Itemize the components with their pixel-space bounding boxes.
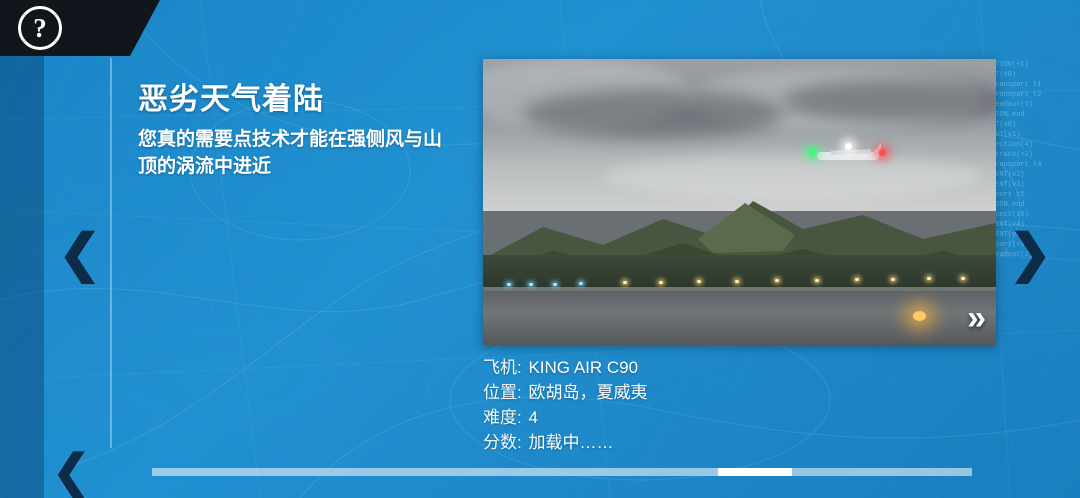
cloud-dark xyxy=(523,89,783,139)
runway-light xyxy=(775,279,779,282)
detail-label: 飞机: xyxy=(483,358,522,377)
mission-details: 飞机: KING AIR C90 位置: 欧胡岛，夏威夷 难度: 4 分数: 加… xyxy=(483,355,983,455)
detail-value: 加载中…… xyxy=(528,433,613,452)
runway-light xyxy=(891,278,895,281)
detail-label: 分数: xyxy=(483,433,522,452)
preview-next-icon[interactable]: » xyxy=(967,301,982,335)
approach-light xyxy=(913,311,926,321)
detail-row-aircraft: 飞机: KING AIR C90 xyxy=(483,355,983,380)
progress-bar[interactable] xyxy=(152,468,972,476)
game-screen: LE:SECTION(+1) ELEMENT(s0) fl.transport … xyxy=(0,0,1080,498)
panel-divider xyxy=(110,58,112,448)
runway-light xyxy=(855,278,859,281)
runway-light xyxy=(961,277,965,280)
aircraft-graphic xyxy=(801,141,893,171)
detail-row-score: 分数: 加载中…… xyxy=(483,430,983,455)
runway-light xyxy=(697,280,701,283)
help-button[interactable]: ? xyxy=(18,6,62,50)
detail-value: 欧胡岛，夏威夷 xyxy=(528,383,647,402)
back-arrow[interactable]: ❮ xyxy=(52,448,91,494)
mission-title: 恶劣天气着陆 xyxy=(138,74,324,118)
runway-light xyxy=(553,283,557,286)
detail-label: 位置: xyxy=(483,383,522,402)
runway-light xyxy=(659,281,663,284)
detail-value: KING AIR C90 xyxy=(528,358,638,377)
runway-light xyxy=(735,280,739,283)
navlight-green-icon xyxy=(809,149,816,156)
cloud-dark xyxy=(783,79,996,121)
runway-light xyxy=(579,282,583,285)
runway-light xyxy=(815,279,819,282)
navlight-white-icon xyxy=(845,143,852,150)
runway-light xyxy=(623,281,627,284)
mission-description: 您真的需要点技术才能在强侧风与山顶的涡流中进近 xyxy=(138,126,458,180)
left-side-band xyxy=(0,0,44,498)
runway-light xyxy=(927,277,931,280)
detail-row-difficulty: 难度: 4 xyxy=(483,405,983,430)
runway-light xyxy=(529,283,533,286)
detail-row-location: 位置: 欧胡岛，夏威夷 xyxy=(483,380,983,405)
mission-preview-image[interactable]: » xyxy=(483,59,996,345)
navlight-red-icon xyxy=(879,149,886,156)
detail-value: 4 xyxy=(528,408,537,427)
progress-bar-indicator xyxy=(718,468,792,476)
next-mission-arrow[interactable]: ❯ xyxy=(1008,228,1052,280)
runway-light xyxy=(507,283,511,286)
detail-label: 难度: xyxy=(483,408,522,427)
previous-mission-arrow[interactable]: ❮ xyxy=(58,228,102,280)
